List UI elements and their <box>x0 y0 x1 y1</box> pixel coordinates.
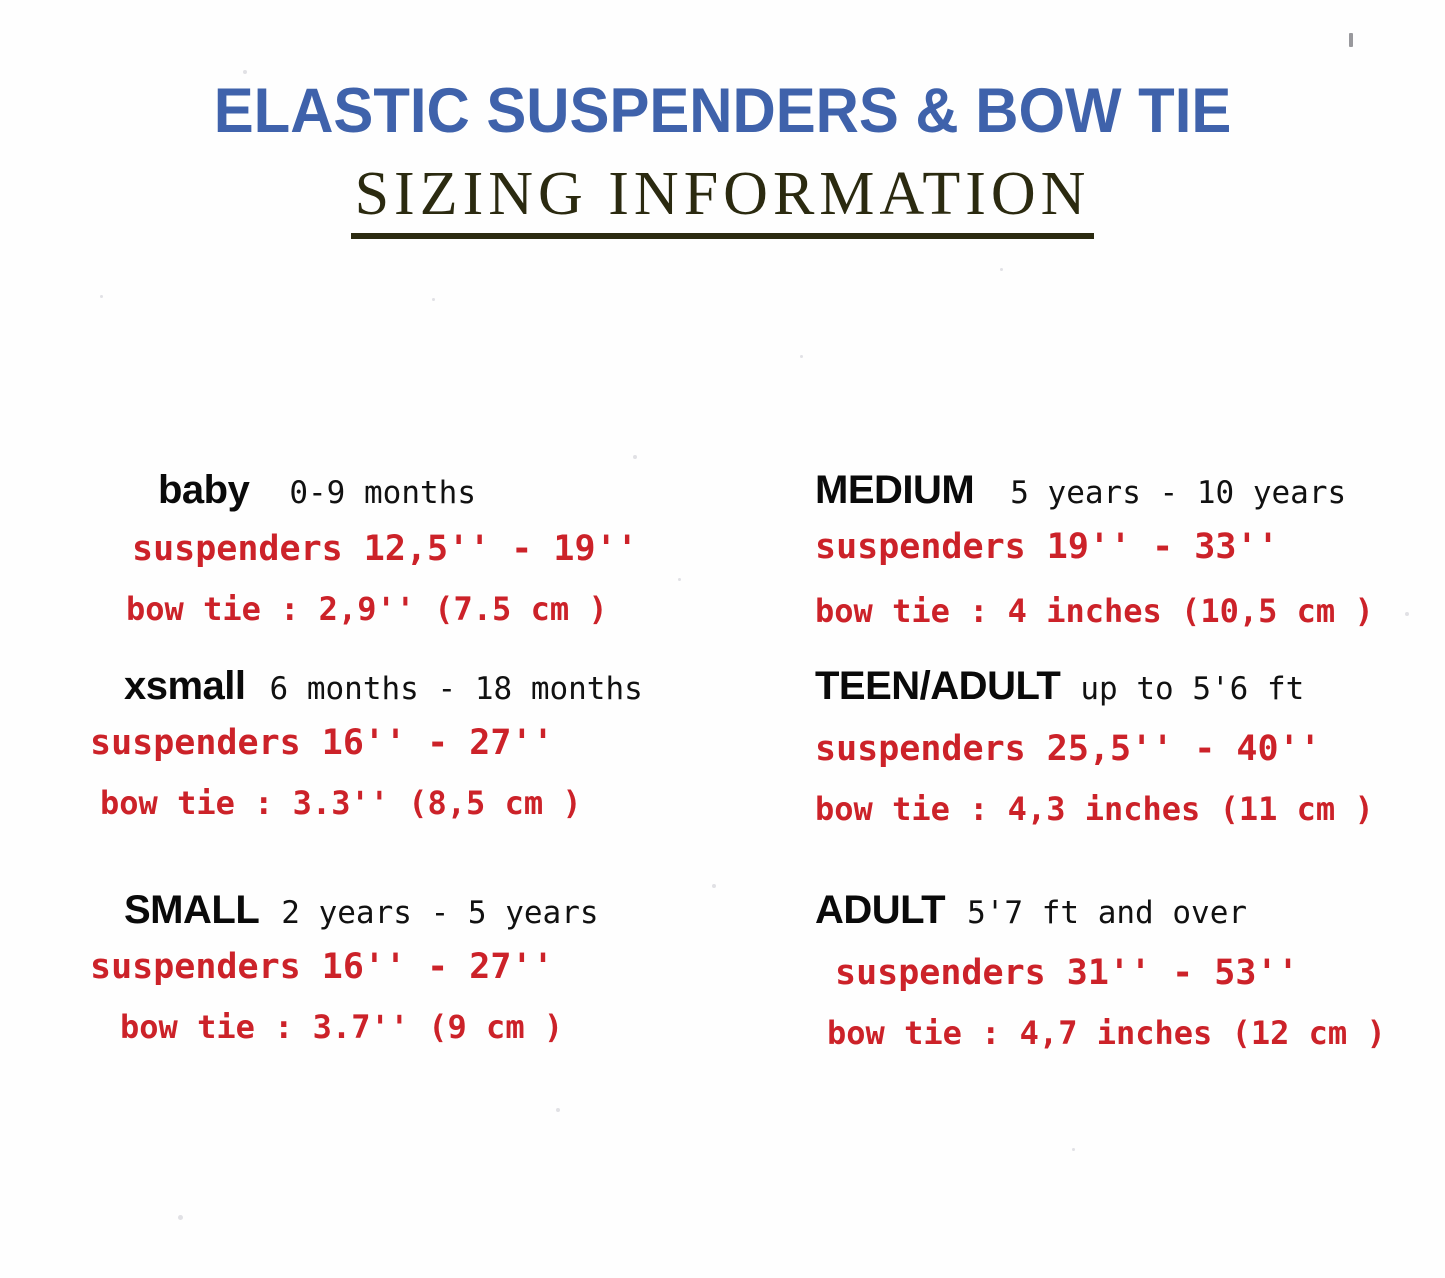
bow-tie-measurement: bow tie : 4,7 inches (12 cm ) <box>827 1017 1395 1049</box>
suspenders-measurement: suspenders 16'' - 27'' <box>90 950 738 985</box>
size-heading: ADULT5'7 ft and over <box>735 890 1395 930</box>
size-name-label: TEEN/ADULT <box>815 664 1060 708</box>
size-heading: xsmall6 months - 18 months <box>78 666 738 706</box>
suspenders-measurement: suspenders 25,5'' - 40'' <box>815 732 1395 767</box>
page-title: ELASTIC SUSPENDERS & BOW TIE <box>36 78 1409 144</box>
bow-tie-measurement: bow tie : 3.7'' (9 cm ) <box>120 1011 738 1043</box>
size-heading: baby0-9 months <box>78 470 738 510</box>
size-heading: SMALL2 years - 5 years <box>78 890 738 930</box>
size-heading: MEDIUM5 years - 10 years <box>735 470 1395 510</box>
subtitle-wrapper: SIZING INFORMATION <box>0 162 1445 239</box>
size-age-range: up to 5'6 ft <box>1080 671 1304 707</box>
size-grid: baby0-9 months suspenders 12,5'' - 19'' … <box>0 470 1445 1110</box>
suspenders-measurement: suspenders 16'' - 27'' <box>90 726 738 761</box>
size-age-range: 6 months - 18 months <box>270 671 643 707</box>
size-name-label: ADULT <box>815 888 945 932</box>
suspenders-measurement: suspenders 12,5'' - 19'' <box>132 532 738 567</box>
page-subtitle: SIZING INFORMATION <box>351 162 1095 239</box>
header-block: ELASTIC SUSPENDERS & BOW TIE SIZING INFO… <box>0 78 1445 239</box>
size-block-adult: ADULT5'7 ft and over suspenders 31'' - 5… <box>735 890 1395 1049</box>
bow-tie-measurement: bow tie : 4,3 inches (11 cm ) <box>815 793 1395 825</box>
size-age-range: 0-9 months <box>289 475 476 511</box>
size-block-small: SMALL2 years - 5 years suspenders 16'' -… <box>78 890 738 1043</box>
size-block-medium: MEDIUM5 years - 10 years suspenders 19''… <box>735 470 1395 627</box>
size-name-label: MEDIUM <box>815 468 974 512</box>
size-age-range: 2 years - 5 years <box>281 895 598 931</box>
size-block-teen-adult: TEEN/ADULTup to 5'6 ft suspenders 25,5''… <box>735 666 1395 825</box>
size-name-label: baby <box>158 468 249 512</box>
sizing-chart-sheet: ELASTIC SUSPENDERS & BOW TIE SIZING INFO… <box>0 0 1445 1278</box>
size-age-range: 5 years - 10 years <box>1010 475 1346 511</box>
bow-tie-measurement: bow tie : 3.3'' (8,5 cm ) <box>100 787 738 819</box>
size-name-label: SMALL <box>124 888 259 932</box>
bow-tie-measurement: bow tie : 4 inches (10,5 cm ) <box>815 595 1395 627</box>
size-heading: TEEN/ADULTup to 5'6 ft <box>735 666 1395 706</box>
bow-tie-measurement: bow tie : 2,9'' (7.5 cm ) <box>126 593 738 625</box>
suspenders-measurement: suspenders 31'' - 53'' <box>835 956 1395 991</box>
suspenders-measurement: suspenders 19'' - 33'' <box>815 530 1395 565</box>
size-block-xsmall: xsmall6 months - 18 months suspenders 16… <box>78 666 738 819</box>
size-block-baby: baby0-9 months suspenders 12,5'' - 19'' … <box>78 470 738 625</box>
size-name-label: xsmall <box>124 664 246 708</box>
size-age-range: 5'7 ft and over <box>967 895 1247 931</box>
